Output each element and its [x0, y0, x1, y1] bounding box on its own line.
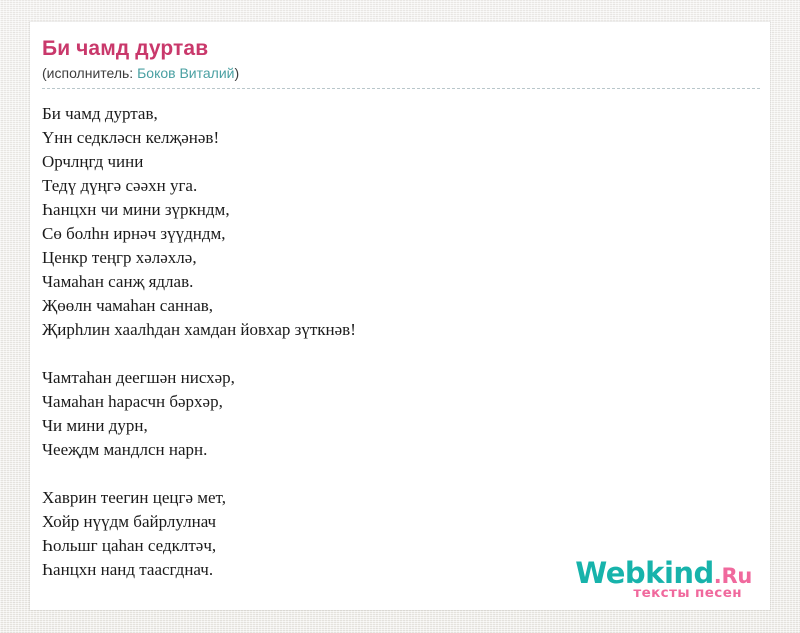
- performer-prefix-label: (исполнитель:: [42, 65, 137, 81]
- card-content: Би чамд дуртав (исполнитель: Боков Витал…: [42, 36, 760, 610]
- lyrics-card: Би чамд дуртав (исполнитель: Боков Витал…: [30, 22, 770, 610]
- page-root: Би чамд дуртав (исполнитель: Боков Витал…: [0, 0, 800, 633]
- performer-suffix-label: ): [234, 65, 239, 81]
- page-title: Би чамд дуртав: [42, 36, 760, 64]
- performer-line: (исполнитель: Боков Виталий): [42, 64, 760, 88]
- webkind-logo[interactable]: Webkind.Ru тексты песен: [575, 558, 752, 600]
- performer-link[interactable]: Боков Виталий: [137, 65, 234, 81]
- lyrics-text: Би чамд дуртав, Үнн седкләсн келҗәнәв! О…: [42, 89, 760, 582]
